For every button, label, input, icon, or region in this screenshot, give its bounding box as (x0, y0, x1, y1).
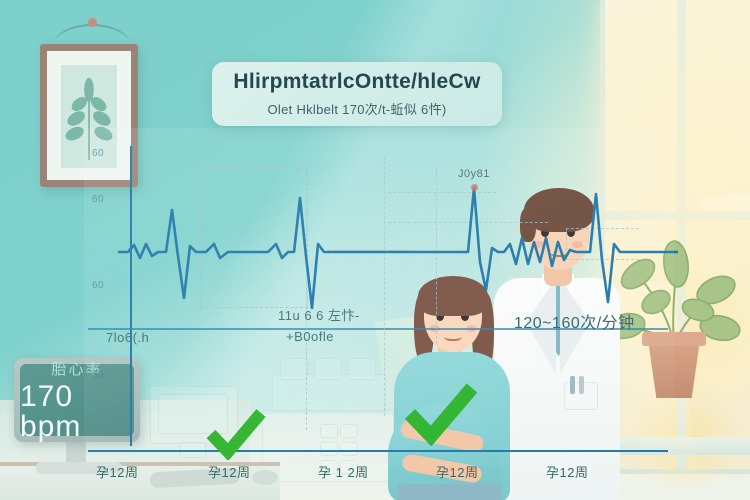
peak-marker-label: J0y81 (458, 168, 490, 180)
check-left-icon (206, 408, 266, 460)
x-label-0: 孕12周 (96, 462, 138, 481)
peak-marker-dot (471, 184, 478, 191)
ecg-waveform (118, 132, 678, 332)
scene-root: 胎心率 170 bpm 60 60 60 60 J0y81 7lo6(.h 7胎 (0, 0, 750, 500)
page-title: HlirpmtatrlcOntte/hleCw (233, 70, 480, 94)
y-tick-2: 60 (92, 280, 104, 291)
x-axis (88, 450, 668, 452)
y-tick-1: 60 (92, 194, 104, 205)
mouse[interactable] (252, 470, 278, 485)
page-subtitle: Olet Hklbelt 170次/t-蚯似 6忤) (267, 99, 446, 118)
annotation-left-marker: 7lo6(.h (106, 330, 149, 345)
x-label-1: 孕12周 (208, 462, 250, 481)
y-tick-0: 60 (92, 148, 104, 159)
check-center-icon (404, 382, 478, 446)
x-label-3: 孕12周 (436, 462, 478, 481)
x-label-2: 孕 1 2周 (318, 462, 369, 481)
title-card: HlirpmtatrlcOntte/hleCw Olet Hklbelt 170… (212, 62, 502, 126)
x-label-4: 孕12周 (546, 462, 588, 481)
ecg-chart: 60 60 60 60 J0y81 (88, 132, 668, 462)
woman-pants (398, 484, 502, 500)
y-tick-3: 60 (92, 370, 104, 381)
annotation-mid-marker-sub: +B0ofle (286, 329, 334, 344)
picture-hook-icon (88, 18, 97, 27)
annotation-mid-marker: 11u 6 6 左忭- (278, 305, 360, 324)
annotation-normal-range: 120~160次/分钟 (514, 309, 635, 333)
